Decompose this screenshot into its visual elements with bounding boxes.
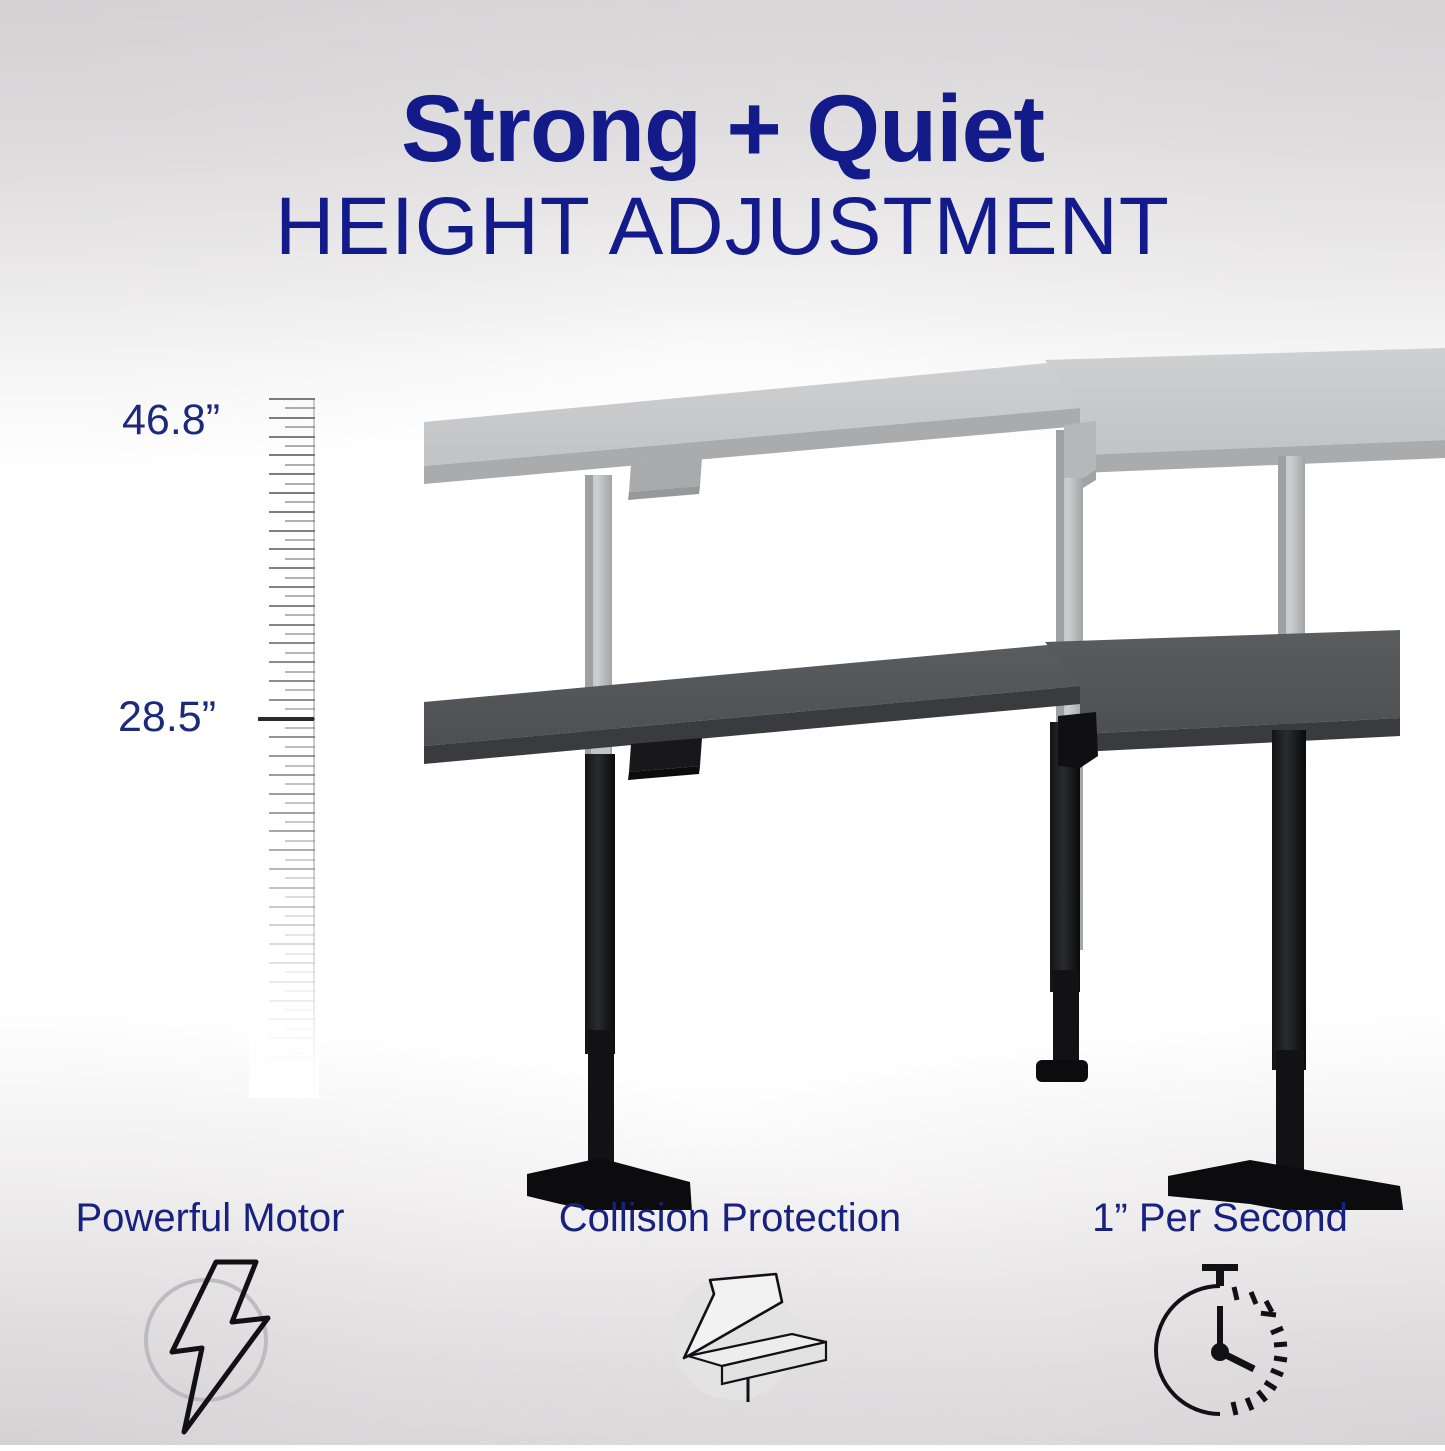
lowered-desk-leg-right	[1168, 730, 1404, 1210]
infographic-root: Strong + Quiet HEIGHT ADJUSTMENT 46.8” 2…	[0, 0, 1445, 1445]
desk-illustration	[0, 330, 1445, 1210]
feature-collision-protection: Collision Protection	[480, 1198, 980, 1436]
raised-desk-control-panel	[628, 458, 702, 500]
lightning-bolt-icon	[110, 1256, 310, 1436]
raised-desk-right-top	[1045, 348, 1445, 455]
lowered-desk-right-top	[1045, 630, 1400, 734]
feature-one-inch-per-second: 1” Per Second	[1010, 1198, 1430, 1436]
feature-label: Powerful Motor	[0, 1198, 420, 1238]
lowered-desk	[424, 630, 1404, 1210]
lowered-desk-corner-bracket	[1058, 712, 1098, 768]
raised-desk-corner-bracket	[1064, 421, 1096, 478]
lowered-desk-leg-front-left	[527, 754, 692, 1210]
colliding-desktops-icon	[610, 1256, 850, 1436]
page-subtitle: HEIGHT ADJUSTMENT	[0, 186, 1445, 268]
page-title: Strong + Quiet	[0, 82, 1445, 177]
lowered-desk-leg-corner	[1036, 712, 1098, 1082]
feature-powerful-motor: Powerful Motor	[0, 1198, 420, 1436]
lowered-desk-control-panel	[628, 738, 702, 780]
feature-label: 1” Per Second	[1010, 1198, 1430, 1238]
stopwatch-icon	[1120, 1256, 1320, 1436]
feature-label: Collision Protection	[480, 1198, 980, 1238]
